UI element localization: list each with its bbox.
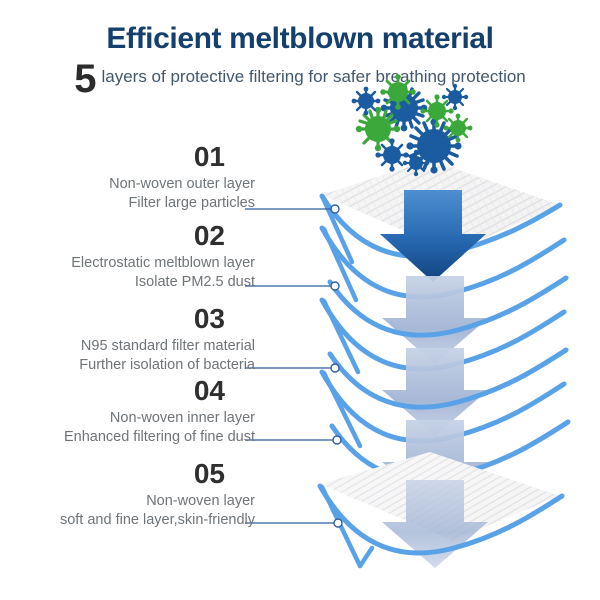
layer-desc-05: soft and fine layer,skin-friendly	[0, 511, 255, 530]
layer-label-02: 02 Electrostatic meltblown layer Isolate…	[0, 222, 255, 292]
connector-03	[245, 364, 339, 372]
layer-label-05: 05 Non-woven layer soft and fine layer,s…	[0, 460, 255, 530]
mask-layers-infographic: Efficient meltblown material 5 layers of…	[0, 0, 600, 600]
mask-sheet-05	[320, 452, 562, 568]
connector-lines	[245, 205, 342, 527]
layer-number-01: 01	[0, 143, 255, 171]
layer-desc-02: Isolate PM2.5 dust	[0, 273, 255, 292]
layer-desc-03: Further isolation of bacteria	[0, 356, 255, 375]
layer-title-01: Non-woven outer layer	[0, 175, 255, 194]
layer-label-03: 03 N95 standard filter material Further …	[0, 305, 255, 375]
layer-title-02: Electrostatic meltblown layer	[0, 254, 255, 273]
layer-title-03: N95 standard filter material	[0, 337, 255, 356]
layer-number-05: 05	[0, 460, 255, 488]
layer-desc-04: Enhanced filtering of fine dust	[0, 428, 255, 447]
layer-number-02: 02	[0, 222, 255, 250]
layer-number-04: 04	[0, 377, 255, 405]
virus-icon	[375, 138, 408, 171]
virus-particle-cluster	[352, 74, 473, 176]
layer-title-04: Non-woven inner layer	[0, 409, 255, 428]
connector-05	[245, 519, 342, 527]
layer-label-04: 04 Non-woven inner layer Enhanced filter…	[0, 377, 255, 447]
virus-icon	[442, 84, 468, 110]
connector-02	[245, 282, 339, 290]
layer-label-01: 01 Non-woven outer layer Filter large pa…	[0, 143, 255, 213]
layer-number-03: 03	[0, 305, 255, 333]
layer-desc-01: Filter large particles	[0, 194, 255, 213]
layer-title-05: Non-woven layer	[0, 492, 255, 511]
connector-04	[245, 436, 341, 444]
